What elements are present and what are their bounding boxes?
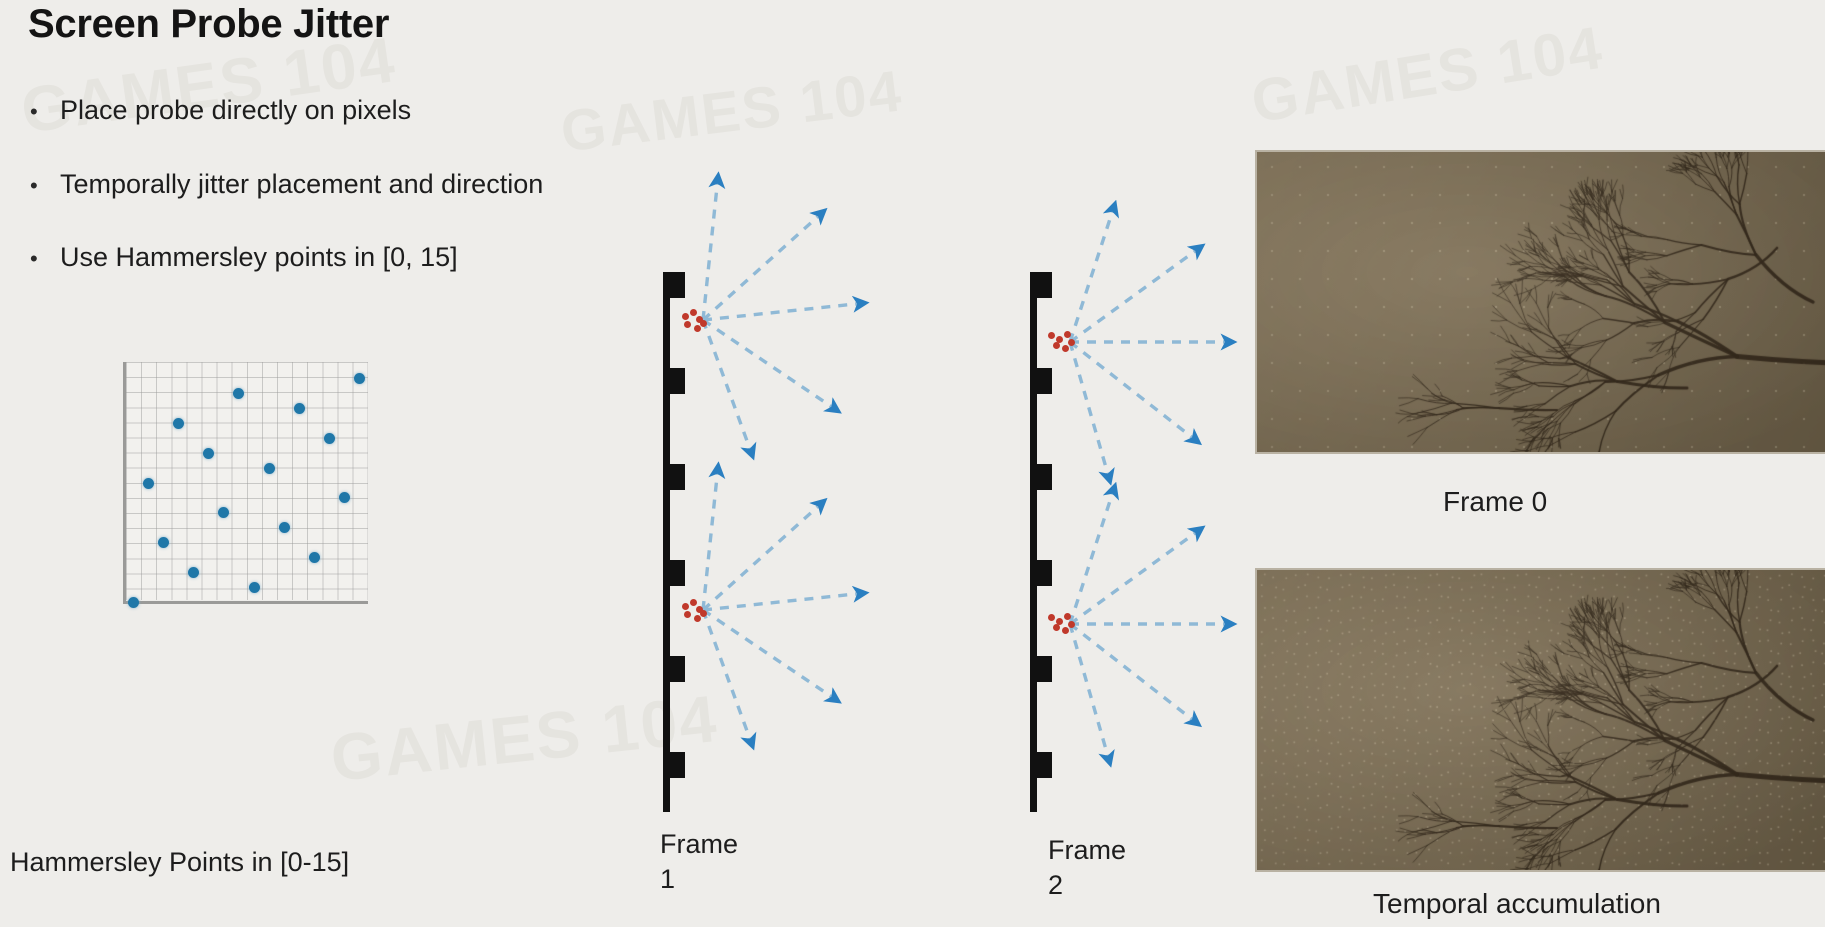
scatter-point [128, 597, 139, 608]
scatter-point [294, 403, 305, 414]
bullet-text: Temporally jitter placement and directio… [60, 169, 543, 199]
probe-ray-fan [663, 272, 923, 812]
probe-dot [1048, 332, 1055, 339]
bullet-marker: • [30, 173, 60, 199]
scatter-point [309, 552, 320, 563]
probe-ray [1070, 624, 1195, 721]
probe-ray [703, 610, 834, 698]
scatter-point [249, 582, 260, 593]
scatter-plot-grid [126, 362, 368, 600]
bullet-text: Place probe directly on pixels [60, 95, 411, 125]
probe-ray [703, 471, 718, 610]
probe-ray [703, 320, 834, 408]
temporal-accumulation-render [1255, 568, 1825, 872]
scatter-point [264, 463, 275, 474]
probe-dot [1048, 614, 1055, 621]
frame-1-diagram [663, 272, 923, 812]
slide-canvas: GAMES 104 GAMES 104 GAMES 104 GAMES 104 … [0, 0, 1825, 927]
scatter-point [203, 448, 214, 459]
scatter-point [188, 567, 199, 578]
bullet-item-2: •Temporally jitter placement and directi… [30, 169, 543, 200]
scatter-caption: Hammersley Points in [0-15] [10, 845, 349, 880]
scatter-point [279, 522, 290, 533]
probe-ray [703, 214, 820, 320]
probe-ray [1070, 531, 1198, 624]
probe-ray [1070, 342, 1195, 439]
scatter-point [143, 478, 154, 489]
probe-dot [682, 603, 689, 610]
scatter-x-axis [123, 601, 368, 604]
frame-1-label: Frame 1 [660, 827, 738, 896]
vignette-overlay [1257, 570, 1825, 870]
frame-0-caption: Frame 0 [1443, 486, 1547, 518]
bullet-marker: • [30, 99, 60, 125]
probe-ray [703, 181, 718, 320]
watermark-text: GAMES 104 [1247, 13, 1608, 137]
watermark-text: GAMES 104 [557, 57, 906, 165]
bullet-text: Use Hammersley points in [0, 15] [60, 242, 458, 272]
hammersley-scatter-plot [118, 362, 368, 607]
frame-0-render [1255, 150, 1825, 454]
probe-ray [1070, 249, 1198, 342]
bullet-item-3: •Use Hammersley points in [0, 15] [30, 242, 458, 273]
probe-ray [1070, 209, 1113, 342]
probe-ray [1070, 624, 1109, 759]
temporal-accumulation-caption: Temporal accumulation [1373, 888, 1661, 920]
vignette-overlay [1257, 152, 1825, 452]
probe-dot [694, 615, 701, 622]
frame-2-label: Frame 2 [1048, 833, 1126, 902]
page-title: Screen Probe Jitter [28, 2, 389, 47]
probe-ray [703, 610, 751, 742]
scatter-point [324, 433, 335, 444]
bullet-item-1: •Place probe directly on pixels [30, 95, 411, 126]
probe-dot [694, 325, 701, 332]
probe-ray-fan [1030, 272, 1290, 812]
probe-dot [1062, 627, 1069, 634]
probe-dot [682, 313, 689, 320]
probe-ray [1070, 342, 1109, 477]
probe-dot [1062, 345, 1069, 352]
scatter-point [173, 418, 184, 429]
scatter-point [158, 537, 169, 548]
bullet-marker: • [30, 246, 60, 272]
probe-ray [1070, 491, 1113, 624]
probe-ray [703, 504, 820, 610]
probe-ray [703, 303, 860, 320]
scatter-y-axis [123, 362, 126, 604]
frame-2-diagram [1030, 272, 1290, 812]
probe-ray [703, 320, 751, 452]
probe-ray [703, 593, 860, 610]
